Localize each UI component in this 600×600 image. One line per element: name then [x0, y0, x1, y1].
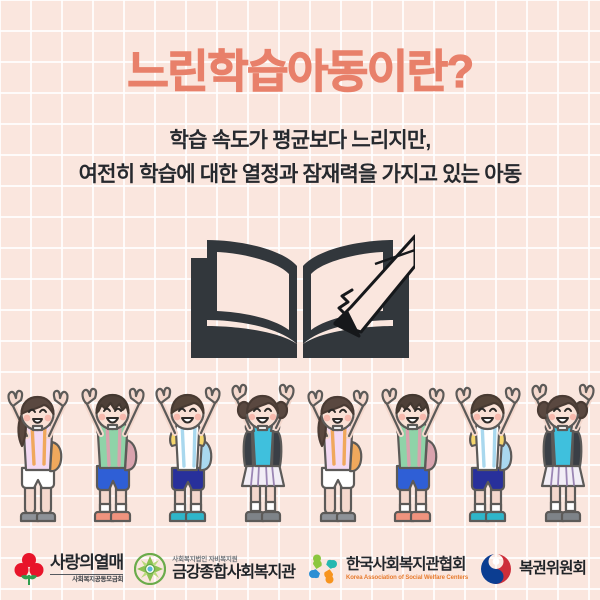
logo-geumgang-top-text: 사회복지법인 자비복지원	[172, 557, 295, 564]
illustration-book-area	[0, 218, 600, 368]
logo-fruit-of-love-name: 사랑의열매	[50, 554, 123, 572]
subtitle-block: 학습 속도가 평균보다 느리지만, 여전히 학습에 대한 열정과 잠재력을 가지…	[0, 124, 600, 192]
logo-geumgang-name: 금강종합사회복지관	[172, 565, 295, 582]
poster-canvas: 느린학습아동이란? 학습 속도가 평균보다 느리지만, 여전히 학습에 대한 열…	[0, 0, 600, 600]
child-figure-boy-green-shirt	[75, 376, 150, 534]
child-figure-girl-blue-top	[225, 376, 300, 534]
logo-kasw-text: 한국사회복지관협회 Korea Association of Social We…	[346, 557, 468, 581]
red-fruit-berry-logo-icon	[14, 552, 44, 586]
green-circular-emblem-icon	[134, 553, 166, 585]
logo-fruit-of-love-text: 사랑의열매 사회복지공동모금회	[50, 554, 123, 583]
subtitle-line-2: 여전히 학습에 대한 열정과 잠재력을 가지고 있는 아동	[0, 158, 600, 192]
logo-lottery-name: 복권위원회	[519, 561, 586, 577]
subtitle-line-1: 학습 속도가 평균보다 느리지만,	[0, 124, 600, 158]
logo-kasw-subtitle: Korea Association of Social Welfare Cent…	[346, 575, 468, 581]
logo-fruit-of-love-subtitle: 사회복지공동모금회	[50, 574, 123, 583]
child-figure-boy-green-shirt-2	[375, 376, 450, 534]
logo-kasw-name: 한국사회복지관협회	[346, 557, 468, 573]
logo-fruit-of-love[interactable]: 사랑의열매 사회복지공동모금회	[14, 552, 123, 586]
logo-geumgang-welfare-center[interactable]: 사회복지법인 자비복지원 금강종합사회복지관	[134, 553, 295, 585]
child-figure-boy-white-shirt-2	[450, 376, 525, 534]
child-figure-boy-white-shirt	[150, 376, 225, 534]
child-figure-girl-pink-shirt-2	[300, 376, 375, 534]
child-figure-girl-blue-top-2	[525, 376, 600, 534]
taegeuk-government-symbol-icon	[479, 552, 513, 586]
logo-geumgang-text: 사회복지법인 자비복지원 금강종합사회복지관	[172, 557, 295, 582]
logo-lottery-commission[interactable]: 복권위원회	[479, 552, 586, 586]
footer-logo-bar: 사랑의열매 사회복지공동모금회	[0, 538, 600, 600]
children-illustration-row	[0, 376, 600, 534]
open-book-with-pencil-icon	[185, 218, 415, 368]
colorful-pinwheel-people-icon	[306, 552, 340, 586]
child-figure-girl-pink-shirt	[0, 376, 75, 534]
title-block: 느린학습아동이란?	[0, 48, 600, 95]
logo-kasw-association[interactable]: 한국사회복지관협회 Korea Association of Social We…	[306, 552, 468, 586]
logo-lottery-text: 복권위원회	[519, 561, 586, 577]
page-title: 느린학습아동이란?	[0, 48, 600, 95]
